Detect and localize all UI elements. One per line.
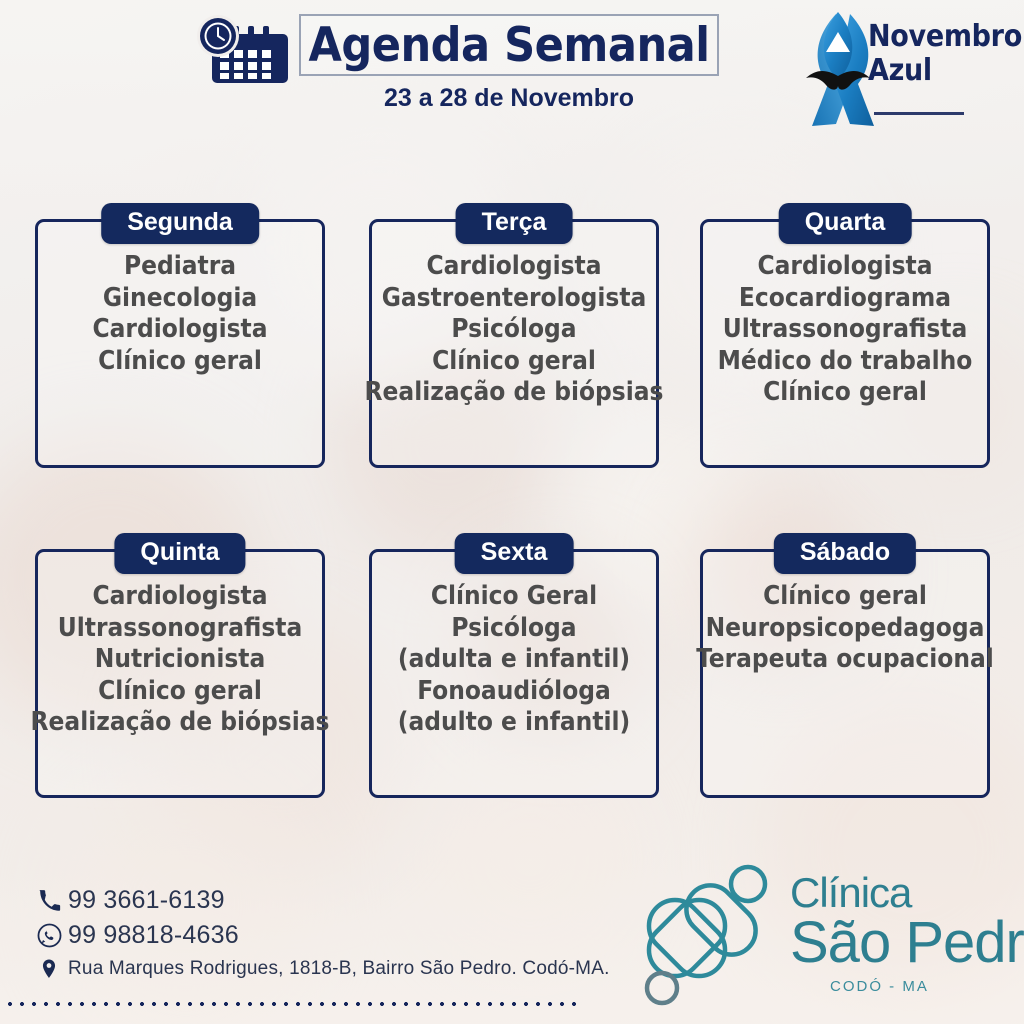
contact-block: 99 3661-6139 99 98818-4636 Rua Marques R…	[36, 886, 616, 988]
day-card-segunda: Segunda Pediatra Ginecologia Cardiologis…	[35, 203, 325, 468]
list-item: Psicóloga	[347, 613, 681, 645]
clinic-logo-city: CODÓ - MA	[830, 978, 929, 995]
list-item: Clínico geral	[13, 346, 347, 378]
list-item: Nutricionista	[13, 644, 347, 676]
list-item: Clínico geral	[13, 676, 347, 708]
contact-whatsapp-row[interactable]: 99 98818-4636	[36, 921, 616, 950]
day-card-quarta: Quarta Cardiologista Ecocardiograma Ultr…	[700, 203, 990, 468]
day-title-segunda: Segunda	[101, 203, 259, 244]
day-title-sabado: Sábado	[774, 533, 916, 574]
address-text: Rua Marques Rodrigues, 1818-B, Bairro Sã…	[68, 958, 610, 980]
list-item: Médico do trabalho	[678, 346, 1012, 378]
list-item: Clínico Geral	[347, 581, 681, 613]
list-item: Cardiologista	[13, 314, 347, 346]
list-item: (adulta e infantil)	[347, 644, 681, 676]
day-title-terca: Terça	[456, 203, 573, 244]
list-item: Clínico geral	[678, 377, 1012, 409]
date-range: 23 a 28 de Novembro	[299, 84, 719, 113]
interlocking-cross-logo-icon	[630, 860, 790, 1010]
clinic-logo: Clínica São Pedro CODÓ - MA	[630, 860, 1010, 1010]
day-items-sabado: Clínico geral Neuropsicopedagoga Terapeu…	[678, 581, 1012, 676]
phone-number: 99 3661-6139	[68, 886, 225, 915]
list-item: Cardiologista	[347, 251, 681, 283]
list-item: Realização de biópsias	[347, 377, 681, 409]
list-item: Ultrassonografista	[678, 314, 1012, 346]
list-item: Fonoaudióloga	[347, 676, 681, 708]
day-items-sexta: Clínico Geral Psicóloga (adulta e infant…	[347, 581, 681, 739]
page-title: Agenda Semanal	[295, 14, 723, 76]
campaign-line2: Azul	[868, 54, 1018, 88]
campaign-underline	[874, 112, 964, 115]
map-pin-icon	[36, 956, 62, 982]
list-item: Ecocardiograma	[678, 283, 1012, 315]
novembro-azul-logo: Novembro Azul	[792, 6, 1018, 132]
dotted-divider	[4, 1000, 582, 1008]
day-items-segunda: Pediatra Ginecologia Cardiologista Clíni…	[13, 251, 347, 377]
poster-header: Agenda Semanal 23 a 28 de Novembro	[0, 0, 1024, 140]
contact-address-row[interactable]: Rua Marques Rodrigues, 1818-B, Bairro Sã…	[36, 956, 616, 982]
day-title-quinta: Quinta	[114, 533, 245, 574]
phone-icon	[36, 888, 62, 914]
list-item: Cardiologista	[678, 251, 1012, 283]
list-item: Ginecologia	[13, 283, 347, 315]
list-item: Realização de biópsias	[13, 707, 347, 739]
list-item: (adulto e infantil)	[347, 707, 681, 739]
day-items-terca: Cardiologista Gastroenterologista Psicól…	[347, 251, 681, 409]
day-title-sexta: Sexta	[455, 533, 574, 574]
list-item: Cardiologista	[13, 581, 347, 613]
clinic-logo-line1: Clínica	[790, 872, 1020, 914]
list-item: Clínico geral	[678, 581, 1012, 613]
list-item: Gastroenterologista	[347, 283, 681, 315]
day-card-terca: Terça Cardiologista Gastroenterologista …	[369, 203, 659, 468]
list-item: Terapeuta ocupacional	[678, 644, 1012, 676]
day-title-quarta: Quarta	[779, 203, 912, 244]
clinic-logo-line2: São Pedro	[790, 914, 1020, 972]
list-item: Psicóloga	[347, 314, 681, 346]
day-card-sexta: Sexta Clínico Geral Psicóloga (adulta e …	[369, 533, 659, 798]
list-item: Clínico geral	[347, 346, 681, 378]
contact-phone-row[interactable]: 99 3661-6139	[36, 886, 616, 915]
whatsapp-icon	[36, 923, 62, 949]
poster-canvas: Agenda Semanal 23 a 28 de Novembro	[0, 0, 1024, 1024]
day-items-quinta: Cardiologista Ultrassonografista Nutrici…	[13, 581, 347, 739]
list-item: Neuropsicopedagoga	[678, 613, 1012, 645]
campaign-line1: Novembro	[868, 20, 1018, 54]
whatsapp-number: 99 98818-4636	[68, 921, 239, 950]
day-items-quarta: Cardiologista Ecocardiograma Ultrassonog…	[678, 251, 1012, 409]
day-card-sabado: Sábado Clínico geral Neuropsicopedagoga …	[700, 533, 990, 798]
list-item: Ultrassonografista	[13, 613, 347, 645]
list-item: Pediatra	[13, 251, 347, 283]
calendar-clock-icon	[190, 10, 294, 90]
day-card-quinta: Quinta Cardiologista Ultrassonografista …	[35, 533, 325, 798]
